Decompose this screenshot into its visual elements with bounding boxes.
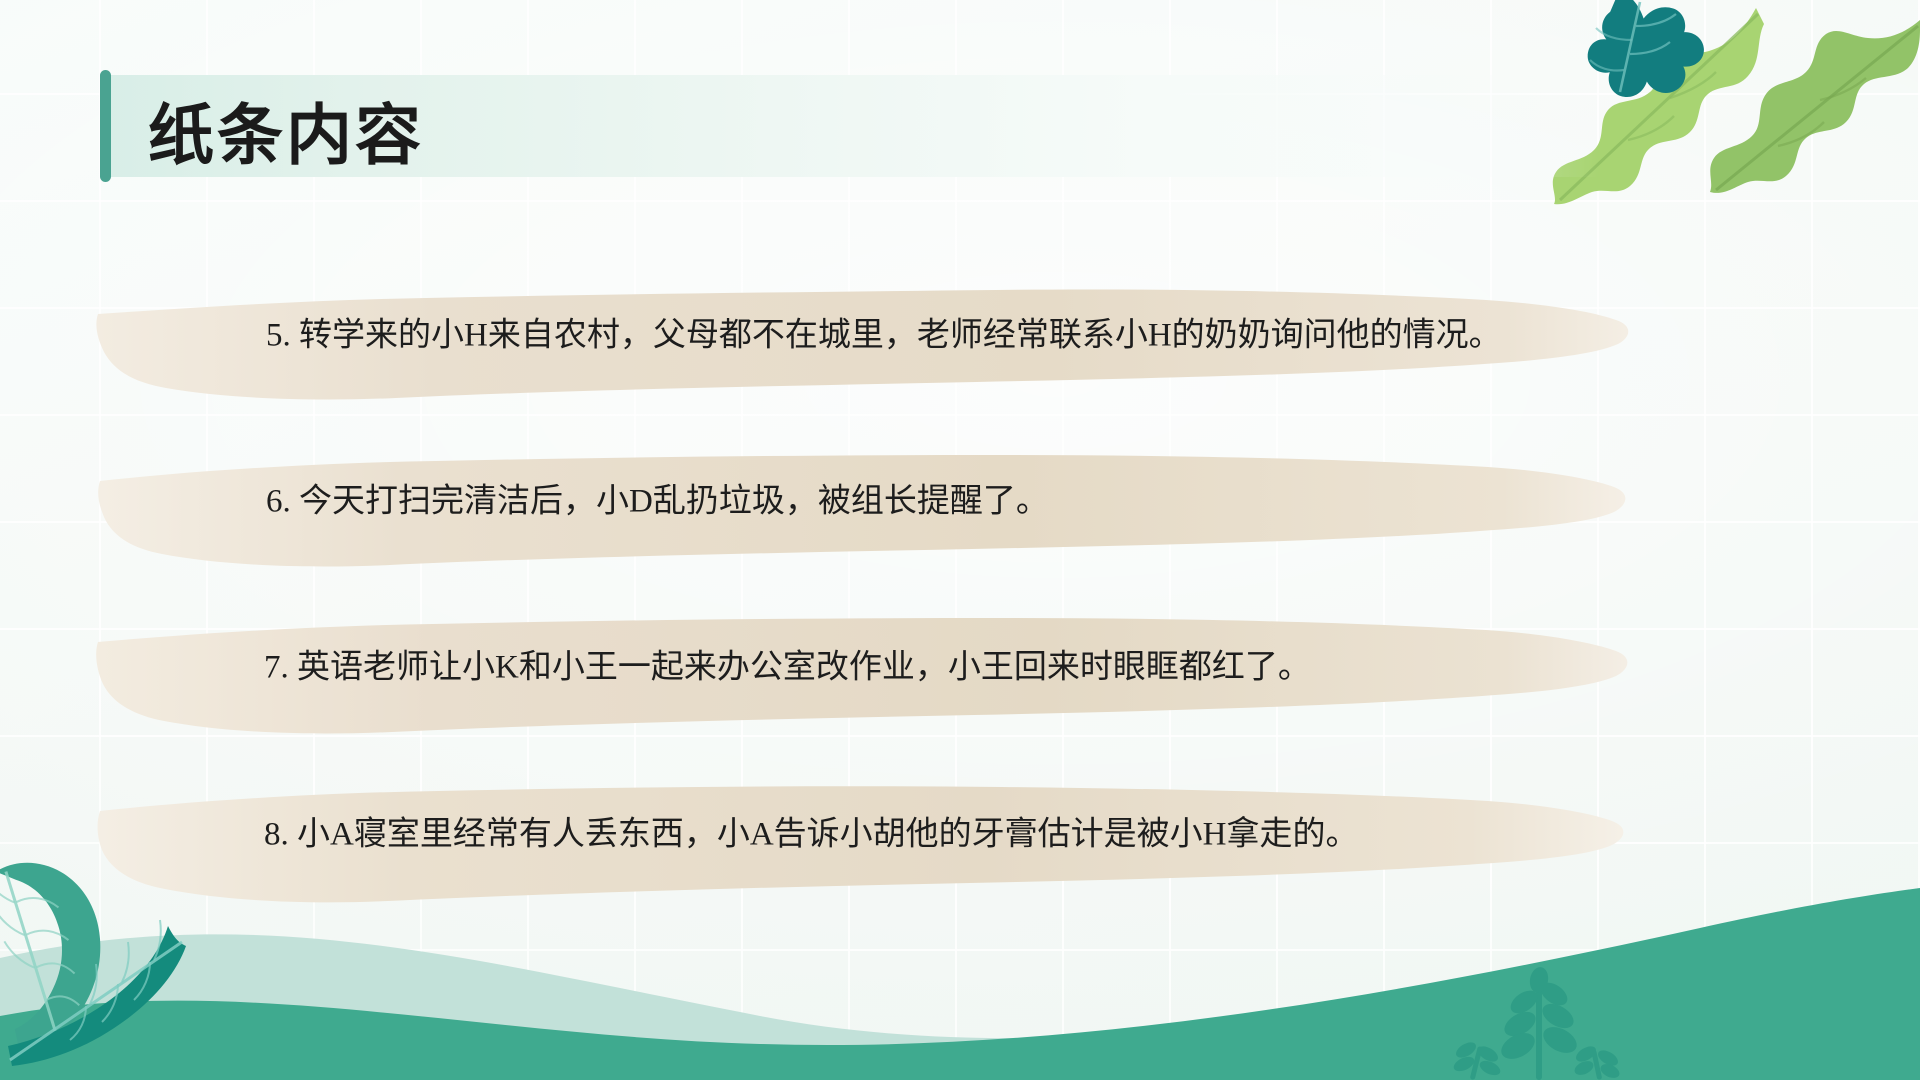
- note-row: 6. 今天打扫完清洁后，小D乱扔垃圾，被组长提醒了。: [96, 451, 1836, 571]
- title-accent-bar: [100, 70, 111, 182]
- bottom-right-sprig-icon: [1440, 950, 1640, 1080]
- note-text: 5. 转学来的小H来自农村，父母都不在城里，老师经常联系小H的奶奶询问他的情况。: [266, 314, 1502, 359]
- note-text: 8. 小A寝室里经常有人丢东西，小A告诉小胡他的牙膏估计是被小H拿走的。: [264, 813, 1359, 858]
- note-row: 5. 转学来的小H来自农村，父母都不在城里，老师经常联系小H的奶奶询问他的情况。: [96, 286, 1836, 406]
- note-text: 7. 英语老师让小K和小王一起来办公室改作业，小王回来时眼眶都红了。: [264, 646, 1311, 691]
- page-title: 纸条内容: [148, 82, 424, 178]
- note-row: 7. 英语老师让小K和小王一起来办公室改作业，小王回来时眼眶都红了。: [96, 616, 1836, 736]
- slide-canvas: 纸条内容 5. 转学来的小H来自农村，父母都不在城里，老师经常联系小H的奶奶询问…: [0, 0, 1920, 1080]
- note-row: 8. 小A寝室里经常有人丢东西，小A告诉小胡他的牙膏估计是被小H拿走的。: [96, 783, 1836, 903]
- note-text: 6. 今天打扫完清洁后，小D乱扔垃圾，被组长提醒了。: [266, 480, 1049, 525]
